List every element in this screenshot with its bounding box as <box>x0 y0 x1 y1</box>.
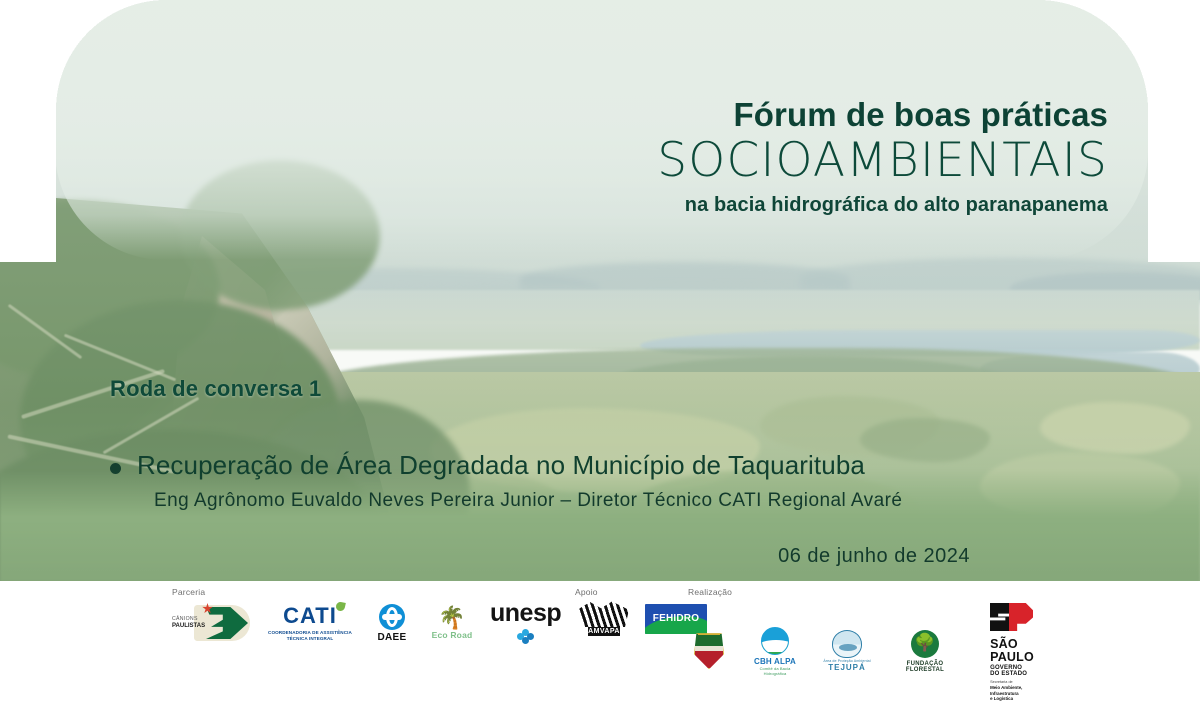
foliage-cluster <box>180 160 380 310</box>
title-line-2: SOCIOAMBIENTAIS <box>657 135 1108 188</box>
cbh-alpa-subtitle: Comitê da Bacia Hidrográfica <box>748 666 802 676</box>
amvapa-wordmark: AMVAPA <box>588 627 620 636</box>
fundacao-florestal-wordmark: FUNDAÇÃO FLORESTAL <box>892 661 958 673</box>
tejupa-wordmark: TEJUPÁ <box>828 663 866 672</box>
amvapa-mountains-icon <box>579 601 629 627</box>
eco-road-logo: 🌴 Eco Road <box>426 607 478 640</box>
shield-band <box>695 646 723 651</box>
palm-tree-icon: 🌴 <box>438 607 465 629</box>
canions-wordmark: CÂNIONS PAULISTAS <box>172 617 205 630</box>
amvapa-logo: AMVAPA <box>575 601 633 636</box>
group-label-apoio: Apoio <box>575 587 598 597</box>
sp-monogram-icon <box>990 601 1034 633</box>
cati-subtitle-line-2: TÉCNICA INTEGRAL <box>287 636 334 642</box>
footer-logo-strip: Parceria CÂNIONS PAULISTAS CATI COORDENA… <box>0 581 1200 675</box>
cbh-alpa-wordmark: CBH ALPA <box>754 657 796 666</box>
group-label-parceria: Parceria <box>172 587 205 597</box>
sp-line-paulo: PAULO <box>990 651 1034 664</box>
tree-circle-icon <box>911 630 939 658</box>
cbh-alpa-emblem-icon <box>761 627 789 655</box>
bullet-dot-icon <box>110 463 121 474</box>
coat-of-arms-shield-icon <box>694 633 724 669</box>
session-bullet: Recuperação de Área Degradada no Municíp… <box>110 450 1040 481</box>
crown-icon <box>698 627 720 635</box>
sp-secretaria-line-4: e Logística <box>990 696 1034 702</box>
canions-paulistas-logo: CÂNIONS PAULISTAS <box>172 601 250 645</box>
group-label-realizacao: Realização <box>688 587 732 597</box>
unesp-diamond-icon <box>517 629 535 645</box>
municipio-coat-of-arms-logo <box>688 633 730 669</box>
daee-emblem-icon <box>379 604 405 630</box>
eco-road-wordmark: Eco Road <box>432 630 473 640</box>
sao-paulo-governo-logo: SÃO PAULO GOVERNO DO ESTADO Secretaria d… <box>990 601 1034 702</box>
session-kicker: Roda de conversa 1 <box>110 376 321 402</box>
canions-line-2: PAULISTAS <box>172 623 205 630</box>
cati-wordmark: CATI <box>283 605 337 627</box>
sp-line-sao: SÃO <box>990 638 1034 651</box>
unesp-logo: unesp <box>490 601 561 645</box>
session-speaker: Eng Agrônomo Euvaldo Neves Pereira Junio… <box>154 490 902 512</box>
fundacao-florestal-logo: FUNDAÇÃO FLORESTAL <box>892 630 958 673</box>
unesp-wordmark: unesp <box>490 601 561 626</box>
cati-logo: CATI COORDENADORIA DE ASSISTÊNCIA TÉCNIC… <box>262 605 358 642</box>
cati-leaf-icon <box>335 601 346 612</box>
daee-wordmark: DAEE <box>378 632 407 643</box>
event-date: 06 de junho de 2024 <box>0 545 970 568</box>
presentation-slide: Fórum de boas práticas SOCIOAMBIENTAIS n… <box>0 0 1200 675</box>
daee-logo: DAEE <box>370 604 414 643</box>
sp-letter-p <box>1009 603 1033 631</box>
tejupa-logo: Área de Proteção Ambiental TEJUPÁ <box>820 630 874 672</box>
session-title: Recuperação de Área Degradada no Municíp… <box>137 450 865 481</box>
slide-title-block: Fórum de boas práticas SOCIOAMBIENTAIS n… <box>657 98 1108 217</box>
sp-line-governo: GOVERNO <box>990 665 1034 672</box>
tejupa-emblem-icon <box>832 630 862 658</box>
title-line-3: na bacia hidrográfica do alto paranapane… <box>657 194 1108 217</box>
title-line-1: Fórum de boas práticas <box>657 98 1108 133</box>
sp-wordmark: SÃO PAULO GOVERNO DO ESTADO Secretaria d… <box>990 638 1034 702</box>
cbh-alpa-logo: CBH ALPA Comitê da Bacia Hidrográfica <box>748 627 802 676</box>
